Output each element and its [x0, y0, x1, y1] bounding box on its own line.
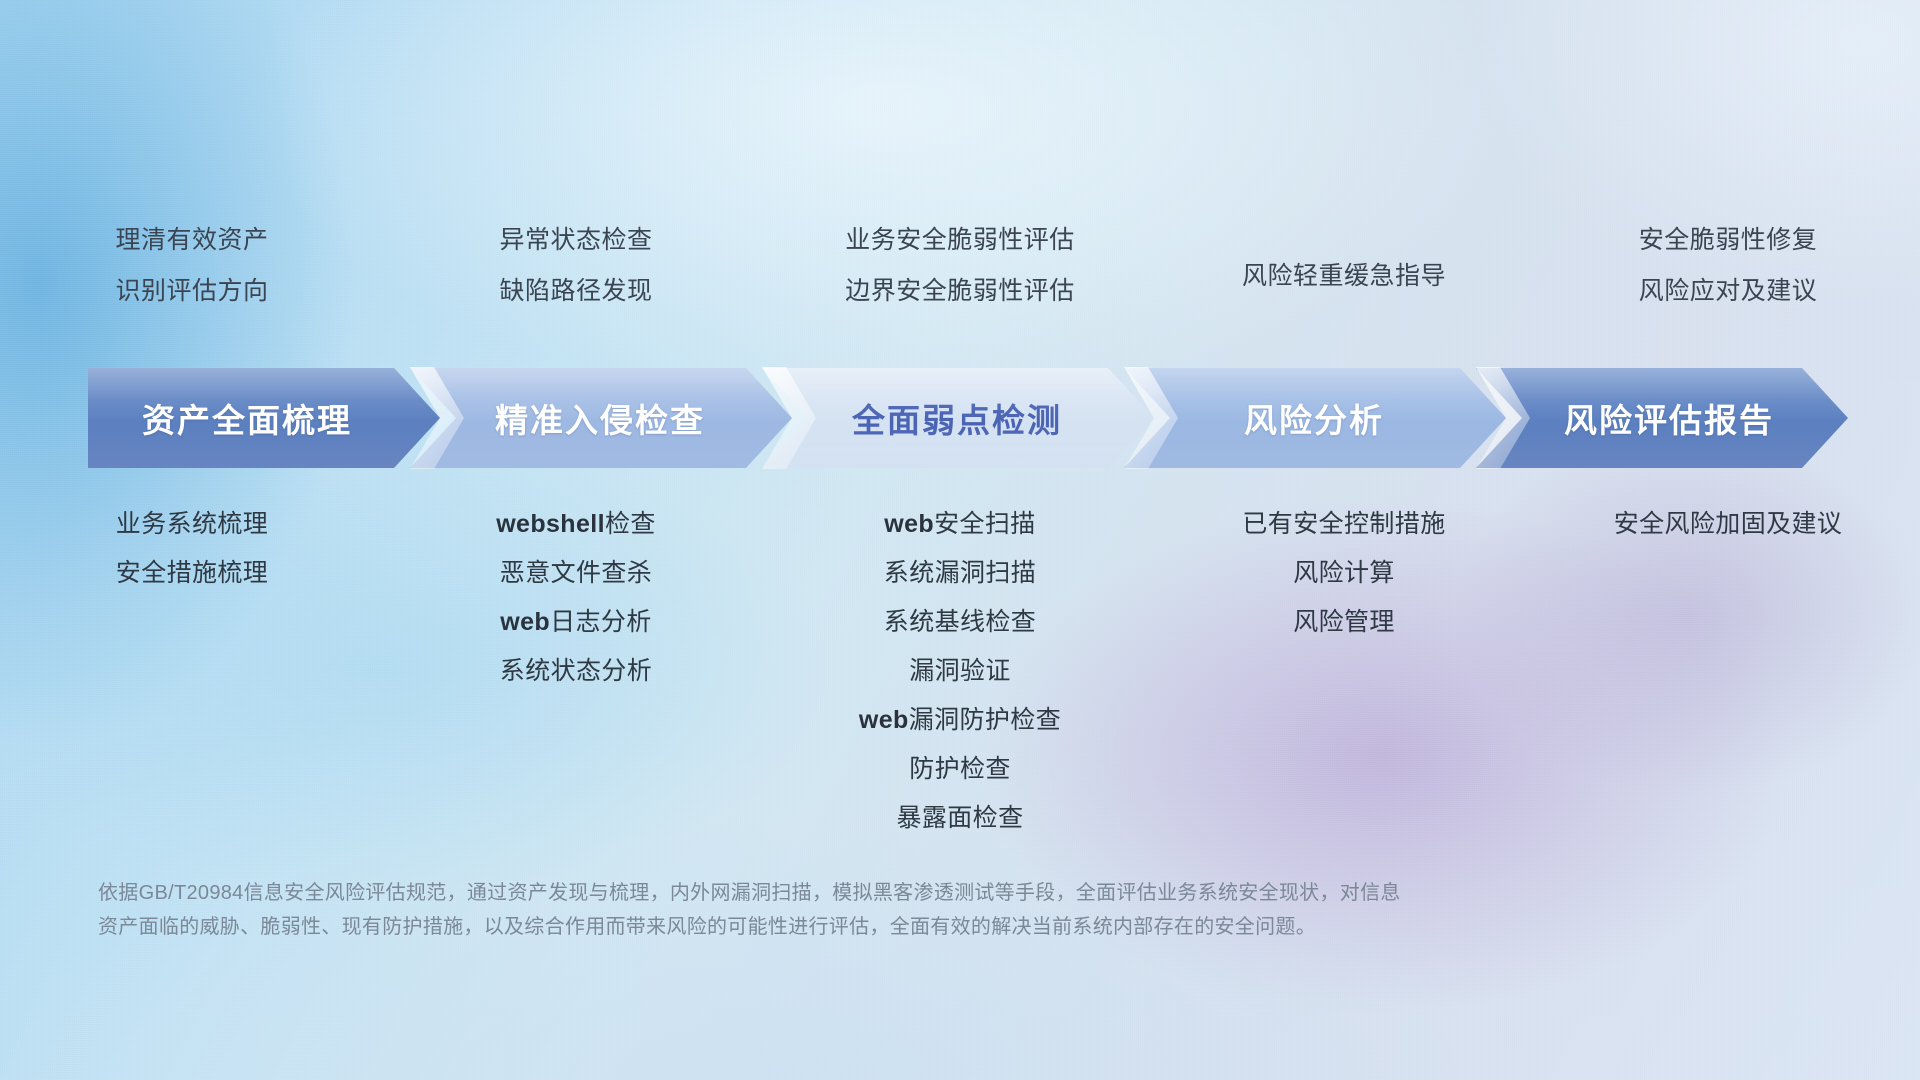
- detail-item-text: 安全风险加固及建议: [1614, 510, 1843, 538]
- top-annotations-intrusion-check: 异常状态检查 缺陷路径发现: [384, 228, 768, 324]
- top-annotation-item: 异常状态检查: [499, 228, 652, 253]
- detail-item: 安全措施梳理: [116, 561, 268, 586]
- detail-item-prefix: webshell: [496, 510, 605, 538]
- detail-item: 防护检查: [909, 757, 1011, 782]
- chevron-stage-label: 风险分析: [1124, 394, 1506, 442]
- chevron-stage-label: 精准入侵检查: [410, 394, 792, 442]
- chevron-stage-risk-report[interactable]: 风险评估报告: [1476, 368, 1848, 468]
- top-annotations-row: 理清有效资产 识别评估方向 异常状态检查 缺陷路径发现 业务安全脆弱性评估 边界…: [0, 228, 1920, 324]
- top-annotation-item: 安全脆弱性修复: [1639, 228, 1818, 253]
- chevron-stage-label: 风险评估报告: [1476, 394, 1848, 442]
- top-annotation-item: 业务安全脆弱性评估: [845, 228, 1075, 253]
- top-annotations-risk-analysis: 风险轻重缓急指导: [1152, 228, 1536, 324]
- detail-item-text: 系统基线检查: [884, 608, 1036, 636]
- process-chevron-banner: 资产全面梳理 精准入侵检查 全面弱点检测 风险分析 风险评估报告: [88, 368, 1848, 468]
- footer-line: 资产面临的威胁、脆弱性、现有防护措施，以及综合作用而带来风险的可能性进行评估，全…: [98, 910, 1658, 944]
- detail-item: 系统漏洞扫描: [884, 561, 1036, 586]
- chevron-stage-risk-analysis[interactable]: 风险分析: [1124, 368, 1506, 468]
- bottom-details-row: 业务系统梳理安全措施梳理 webshell检查恶意文件查杀web日志分析系统状态…: [0, 512, 1920, 831]
- top-annotation-item: 风险应对及建议: [1639, 279, 1818, 304]
- detail-item-prefix: web: [500, 608, 550, 636]
- top-annotation-item: 理清有效资产: [115, 228, 268, 253]
- bottom-details-risk-report: 安全风险加固及建议: [1536, 512, 1920, 831]
- detail-item-text: 安全措施梳理: [116, 559, 268, 587]
- detail-item-text: 系统漏洞扫描: [884, 559, 1036, 587]
- detail-item-text: 业务系统梳理: [116, 510, 268, 538]
- detail-item-text: 风险管理: [1293, 608, 1395, 636]
- chevron-stage-asset-inventory[interactable]: 资产全面梳理: [88, 368, 440, 468]
- footer-description: 依据GB/T20984信息安全风险评估规范，通过资产发现与梳理，内外网漏洞扫描，…: [98, 876, 1658, 944]
- detail-item: 风险计算: [1293, 561, 1395, 586]
- chevron-stage-weakness-detection[interactable]: 全面弱点检测: [762, 368, 1154, 468]
- top-annotations-risk-report: 安全脆弱性修复 风险应对及建议: [1536, 228, 1920, 324]
- detail-item-text: 暴露面检查: [896, 804, 1023, 832]
- detail-item-text: 恶意文件查杀: [500, 559, 652, 587]
- detail-item-text: 防护检查: [909, 755, 1011, 783]
- detail-item: 恶意文件查杀: [500, 561, 652, 586]
- chevron-stage-label: 资产全面梳理: [88, 394, 440, 442]
- detail-item-prefix: web: [859, 706, 909, 734]
- detail-item-text: 已有安全控制措施: [1242, 510, 1445, 538]
- detail-item: webshell检查: [496, 512, 656, 537]
- footer-line: 依据GB/T20984信息安全风险评估规范，通过资产发现与梳理，内外网漏洞扫描，…: [98, 876, 1658, 910]
- chevron-stage-label: 全面弱点检测: [762, 394, 1154, 442]
- detail-item: 风险管理: [1293, 610, 1395, 635]
- bottom-details-weakness-detection: web安全扫描系统漏洞扫描系统基线检查漏洞验证web漏洞防护检查防护检查暴露面检…: [768, 512, 1152, 831]
- detail-item: 系统基线检查: [884, 610, 1036, 635]
- detail-item-text: 系统状态分析: [500, 657, 652, 685]
- detail-item: web安全扫描: [884, 512, 1035, 537]
- chevron-stage-intrusion-check[interactable]: 精准入侵检查: [410, 368, 792, 468]
- bottom-details-intrusion-check: webshell检查恶意文件查杀web日志分析系统状态分析: [384, 512, 768, 831]
- detail-item: 已有安全控制措施: [1242, 512, 1445, 537]
- top-annotations-weakness-detection: 业务安全脆弱性评估 边界安全脆弱性评估: [768, 228, 1152, 324]
- detail-item-text: 风险计算: [1293, 559, 1395, 587]
- detail-item-text: 漏洞防护检查: [909, 706, 1061, 734]
- top-annotation-item: 边界安全脆弱性评估: [845, 279, 1075, 304]
- detail-item: 漏洞验证: [909, 659, 1011, 684]
- detail-item-text: 漏洞验证: [909, 657, 1011, 685]
- detail-item: 安全风险加固及建议: [1614, 512, 1843, 537]
- detail-item-text: 安全扫描: [934, 510, 1036, 538]
- detail-item-text: 日志分析: [550, 608, 652, 636]
- detail-item: 暴露面检查: [896, 806, 1023, 831]
- top-annotation-item: 缺陷路径发现: [499, 279, 652, 304]
- detail-item: web漏洞防护检查: [859, 708, 1061, 733]
- bottom-details-risk-analysis: 已有安全控制措施风险计算风险管理: [1152, 512, 1536, 831]
- bottom-details-asset-inventory: 业务系统梳理安全措施梳理: [0, 512, 384, 831]
- detail-item: web日志分析: [500, 610, 651, 635]
- detail-item-text: 检查: [605, 510, 656, 538]
- top-annotation-item: 风险轻重缓急指导: [1242, 264, 1446, 289]
- detail-item: 业务系统梳理: [116, 512, 268, 537]
- top-annotations-asset-inventory: 理清有效资产 识别评估方向: [0, 228, 384, 324]
- detail-item-prefix: web: [884, 510, 934, 538]
- top-annotation-item: 识别评估方向: [115, 279, 268, 304]
- detail-item: 系统状态分析: [500, 659, 652, 684]
